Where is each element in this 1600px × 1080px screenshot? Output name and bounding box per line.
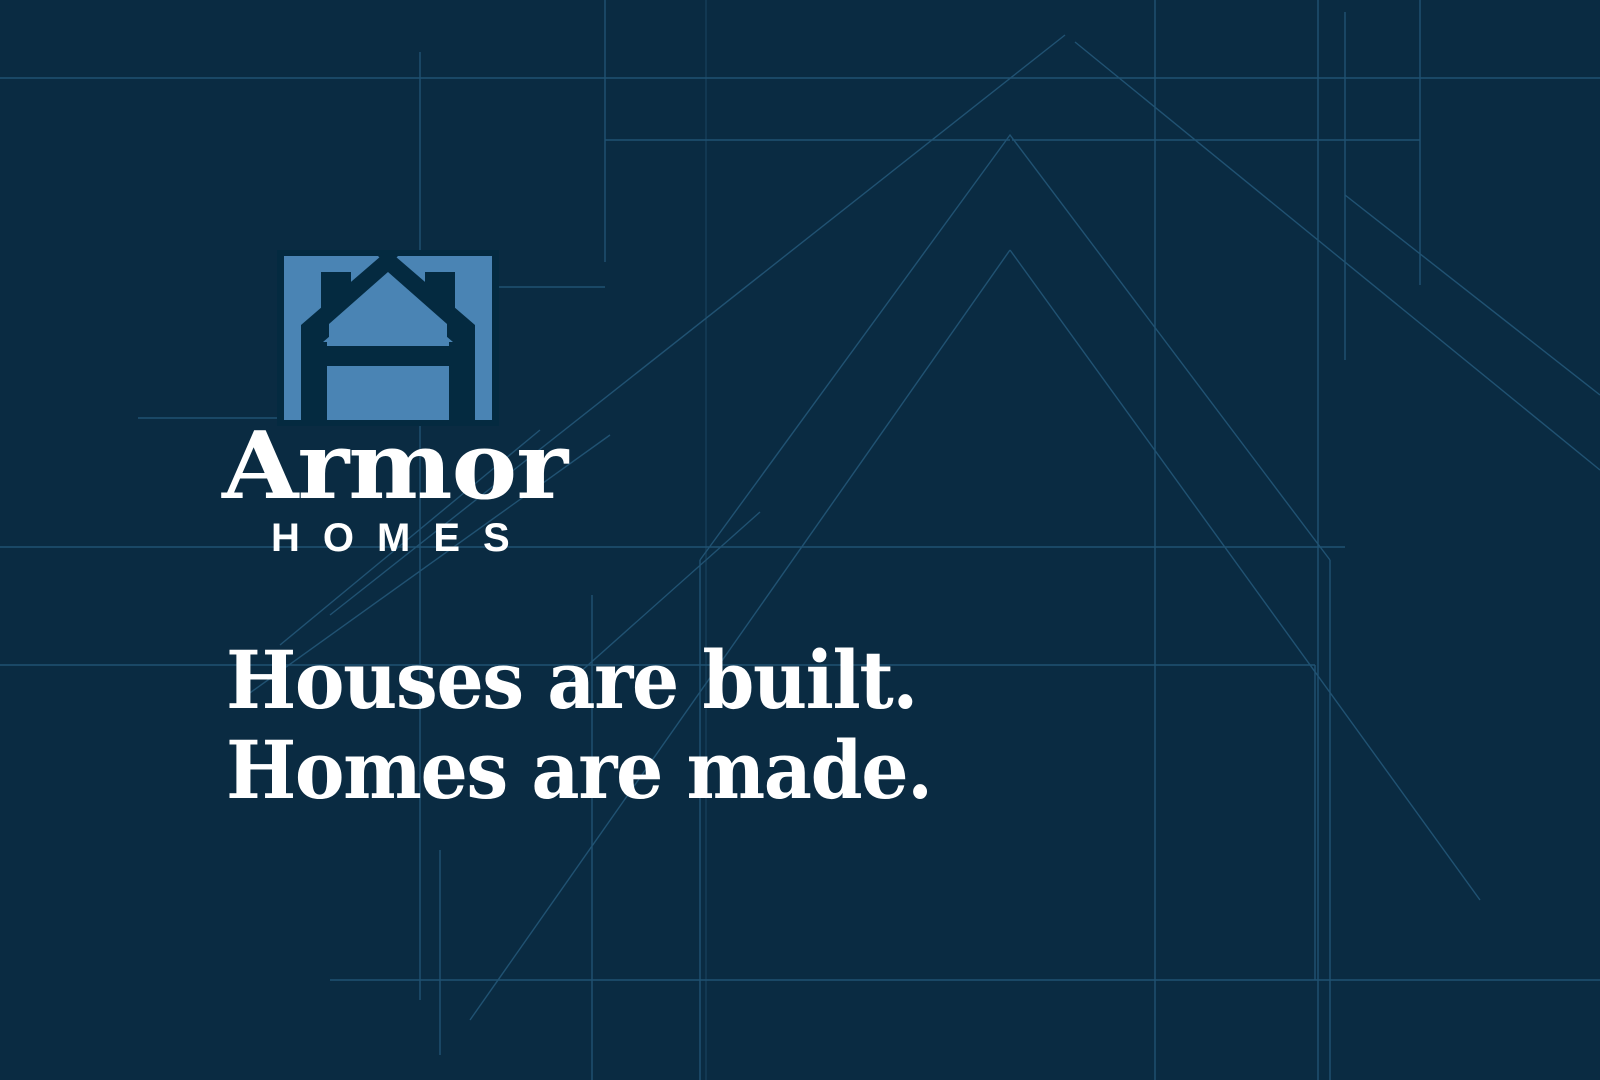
- brand-poster: Armor HOMES Houses are built. Homes are …: [0, 0, 1600, 1080]
- brand-name-secondary: HOMES: [271, 518, 982, 558]
- tagline: Houses are built. Homes are made.: [226, 636, 1126, 815]
- brand-lockup: Armor HOMES: [222, 250, 982, 558]
- house-frame-logo-icon: [277, 250, 499, 426]
- wordmark: Armor HOMES: [222, 422, 982, 558]
- tagline-line-1: Houses are built.: [226, 636, 1063, 726]
- brand-name-primary: Armor: [222, 422, 1028, 510]
- tagline-line-2: Homes are made.: [226, 726, 1063, 816]
